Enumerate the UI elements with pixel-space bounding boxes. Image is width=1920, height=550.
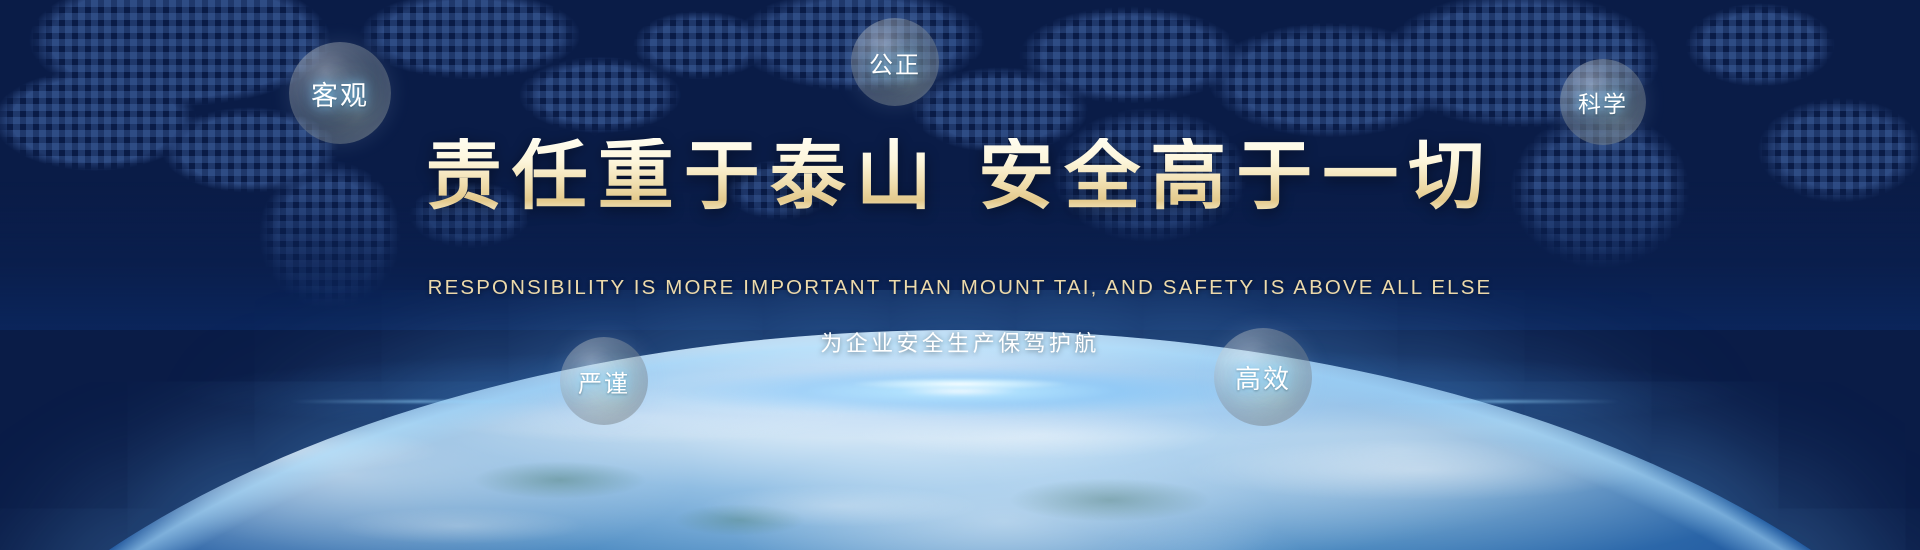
keyword-badge-kexue: 科学 bbox=[1560, 59, 1646, 145]
keyword-badge-kexue-label: 科学 bbox=[1578, 85, 1628, 119]
safety-slogan-banner: 责任重于泰山 安全高于一切 RESPONSIBILITY IS MORE IMP… bbox=[0, 0, 1920, 550]
banner-subtitle-english: RESPONSIBILITY IS MORE IMPORTANT THAN MO… bbox=[0, 278, 1920, 299]
keyword-badge-yanjin-label: 严谨 bbox=[578, 364, 630, 399]
keyword-badge-keguan: 客观 bbox=[289, 42, 391, 144]
keyword-badge-yanjin: 严谨 bbox=[560, 337, 648, 425]
horizon-light-beam-right bbox=[1380, 400, 1620, 403]
keyword-badge-gongzheng: 公正 bbox=[851, 18, 939, 106]
banner-title: 责任重于泰山 安全高于一切 bbox=[0, 138, 1920, 214]
horizon-light-beam-left bbox=[290, 400, 550, 403]
banner-subtitle-chinese: 为企业安全生产保驾护航 bbox=[0, 333, 1920, 355]
earth-rim-light bbox=[0, 330, 1920, 550]
keyword-badge-gaoxiao-label: 高效 bbox=[1235, 359, 1291, 396]
earth-horizon bbox=[0, 290, 1920, 550]
keyword-badge-gaoxiao: 高效 bbox=[1214, 328, 1312, 426]
keyword-badge-gongzheng-label: 公正 bbox=[869, 45, 921, 80]
keyword-badge-keguan-label: 客观 bbox=[311, 74, 369, 113]
